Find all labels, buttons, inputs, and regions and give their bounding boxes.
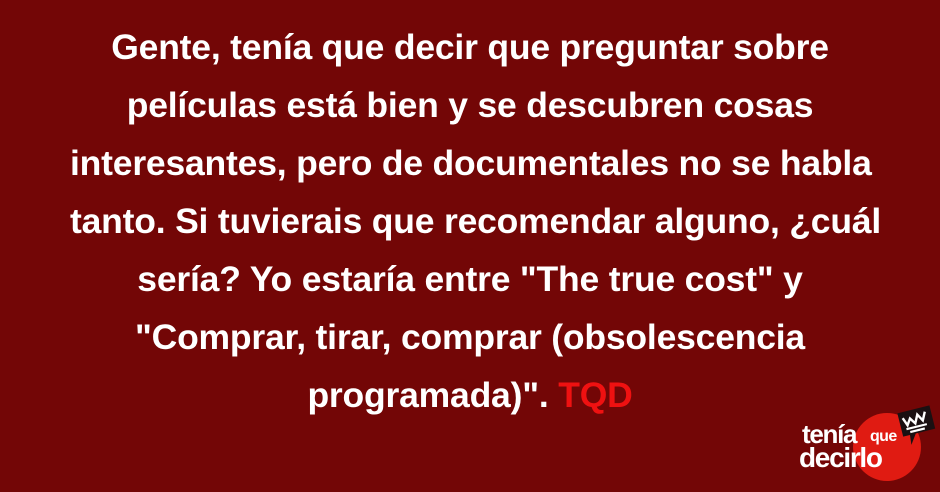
quote-text-block: Gente, tenía que decir que preguntar sob… (70, 18, 870, 424)
quote-line-4: tanto. Si tuvierais que recomendar algun… (70, 192, 870, 250)
quote-line-2: películas está bien y se descubren cosas (70, 76, 870, 134)
tqd-logo[interactable]: tenía que decirlo (796, 406, 940, 488)
logo-word-decirlo: decirlo (799, 444, 882, 472)
speech-bubble-icon (893, 402, 940, 450)
quote-line-1: Gente, tenía que decir que preguntar sob… (70, 18, 870, 76)
quote-line-7-text: programada)". (307, 375, 548, 415)
quote-line-6: "Comprar, tirar, comprar (obsolescencia (70, 308, 870, 366)
quote-card: Gente, tenía que decir que preguntar sob… (0, 0, 940, 492)
quote-line-7: programada)". TQD (70, 366, 870, 424)
tqd-tag: TQD (558, 375, 632, 415)
quote-line-3: interesantes, pero de documentales no se… (70, 134, 870, 192)
quote-line-5: sería? Yo estaría entre "The true cost" … (70, 250, 870, 308)
